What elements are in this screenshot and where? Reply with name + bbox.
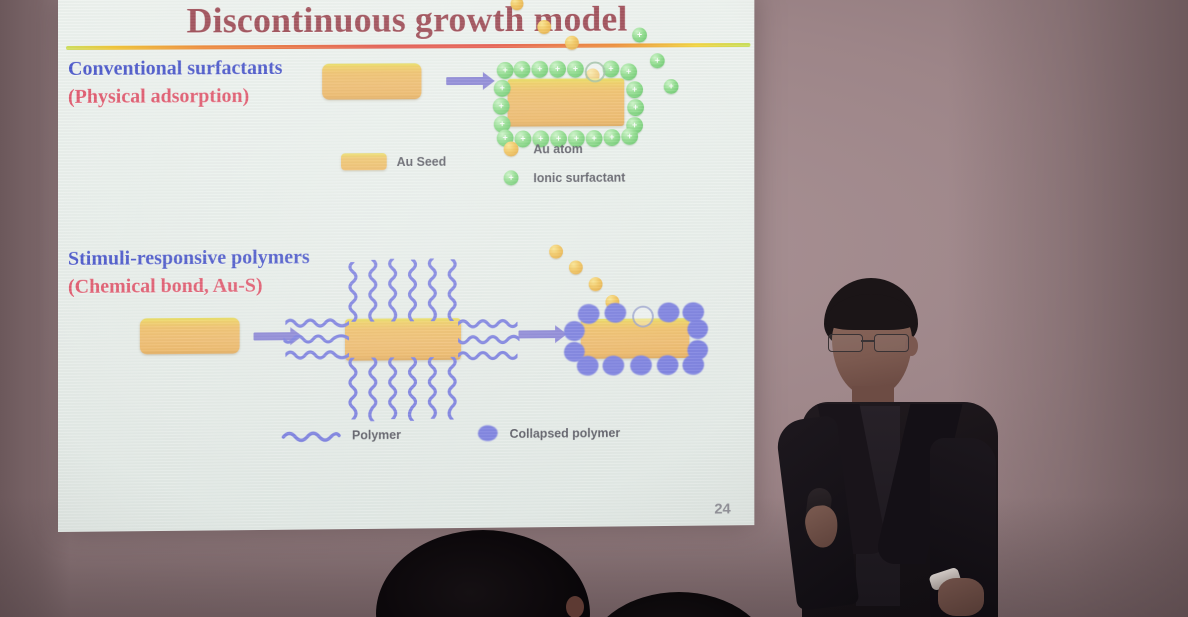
plus-icon: +: [637, 31, 642, 40]
presenter: [780, 278, 1020, 617]
polymer-chain-right: [458, 317, 517, 331]
surfactant-shell: +: [497, 62, 514, 79]
legend-label-au-seed: Au Seed: [397, 155, 447, 169]
polymer-chain-left: [285, 316, 349, 330]
section-heading-stimuli-line1: Stimuli-responsive polymers: [68, 246, 310, 271]
presenter-hand-right: [938, 578, 984, 616]
plus-icon: +: [592, 134, 597, 143]
au-atom-falling: [549, 245, 563, 259]
presenter-hand-left: [803, 504, 840, 550]
au-seed-row2-polymer: [345, 318, 461, 361]
au-atom-falling: [565, 36, 579, 50]
surfactant-falling: +: [632, 28, 647, 43]
title-gradient-rule: [66, 43, 750, 50]
plus-icon: +: [609, 133, 614, 142]
au-seed-row1-bare: [322, 63, 421, 99]
glasses-lens-left: [828, 334, 863, 352]
plus-icon: +: [633, 103, 638, 112]
collapsed-polymer-blob: [577, 356, 599, 376]
polymer-chain-top: [445, 259, 459, 321]
surfactant-shell: +: [514, 61, 531, 78]
legend-label-au-atom: Au atom: [533, 142, 582, 156]
polymer-chain-top: [366, 260, 380, 322]
surfactant-shell: +: [531, 61, 548, 78]
polymer-chain-top: [406, 260, 420, 322]
polymer-chain-bottom: [386, 357, 400, 419]
section-heading-stimuli-line2: (Chemical bond, Au-S): [68, 275, 263, 299]
plus-icon: +: [519, 65, 524, 74]
arrow-row2-second: [519, 330, 557, 338]
arrow-row1: [446, 77, 484, 85]
polymer-chain-top: [386, 259, 400, 322]
collapsed-polymer-blob: [603, 355, 625, 375]
plus-icon: +: [608, 64, 613, 73]
polymer-chain-bottom: [406, 357, 420, 421]
plus-icon: +: [626, 67, 631, 76]
polymer-chain-bottom: [425, 357, 439, 419]
collapsed-polymer-blob: [630, 355, 652, 375]
section-heading-conventional-line2: (Physical adsorption): [68, 85, 249, 109]
plus-icon: +: [503, 134, 508, 143]
legend-label-polymer: Polymer: [352, 428, 401, 442]
plus-icon: +: [632, 85, 637, 94]
au-seed-row2-bare: [140, 318, 240, 355]
plus-icon: +: [537, 65, 542, 74]
legend-swatch-ionic-surfactant: +: [504, 170, 519, 185]
polymer-chain-top: [346, 262, 360, 322]
blob-gap-ring: [632, 306, 654, 328]
glasses-icon: [826, 334, 918, 350]
shell-gap-ring: [585, 61, 606, 82]
surfactant-shell: +: [567, 61, 584, 78]
legend-swatch-au-seed: [341, 153, 387, 170]
collapsed-polymer-blob: [682, 355, 704, 375]
plus-icon: +: [500, 84, 505, 93]
polymer-chain-top: [425, 258, 439, 321]
polymer-chain-right: [458, 332, 519, 346]
legend-swatch-au-atom: [504, 141, 519, 156]
legend-swatch-collapsed-polymer: [478, 425, 498, 441]
plus-icon: +: [503, 66, 508, 75]
surfactant-shell: +: [493, 98, 510, 115]
legend-label-collapsed-polymer: Collapsed polymer: [510, 426, 621, 441]
au-atom-falling: [537, 20, 551, 34]
projected-slide: Discontinuous growth model Conventional …: [58, 0, 754, 532]
collapsed-polymer-blob: [657, 355, 679, 375]
legend-label-ionic-surfactant: Ionic surfactant: [533, 171, 625, 185]
polymer-chain-bottom: [346, 358, 360, 420]
polymer-chain-bottom: [445, 357, 459, 420]
polymer-chain-left: [283, 332, 349, 346]
section-heading-conventional-line1: Conventional surfactants: [68, 57, 282, 81]
slide-canvas: Discontinuous growth model Conventional …: [58, 0, 754, 532]
plus-icon: +: [627, 132, 632, 141]
plus-icon: +: [655, 56, 660, 65]
polymer-chain-right: [458, 348, 517, 362]
glasses-bridge: [861, 340, 874, 342]
polymer-chain-left: [285, 348, 349, 362]
au-atom-falling: [569, 260, 583, 274]
surfactant-shell: +: [549, 61, 566, 78]
surfactant-falling: +: [664, 79, 679, 94]
surfactant-shell: +: [626, 81, 643, 98]
surfactant-shell: +: [586, 130, 603, 147]
surfactant-shell: +: [620, 63, 637, 80]
plus-icon: +: [555, 65, 560, 74]
surfactant-shell: +: [494, 80, 511, 97]
collapsed-polymer-blob: [687, 319, 708, 339]
plus-icon: +: [520, 134, 525, 143]
slide-page-number: 24: [714, 501, 730, 518]
plus-icon: +: [573, 65, 578, 74]
glasses-lens-right: [874, 334, 909, 352]
surfactant-shell: +: [621, 128, 638, 145]
polymer-chain-bottom: [366, 357, 380, 421]
plus-icon: +: [508, 173, 513, 182]
au-atom-falling: [589, 277, 603, 291]
plus-icon: +: [669, 82, 674, 91]
audience-ear: [566, 596, 584, 617]
page-title: Discontinuous growth model: [58, 0, 754, 42]
surfactant-shell: +: [627, 99, 644, 116]
au-seed-row1-coated: [508, 78, 625, 126]
lecture-scene: Discontinuous growth model Conventional …: [0, 0, 1188, 617]
surfactant-falling: +: [650, 53, 665, 68]
plus-icon: +: [499, 102, 504, 111]
legend-swatch-polymer: [281, 427, 341, 443]
surfactant-shell: +: [604, 129, 621, 146]
plus-icon: +: [500, 120, 505, 129]
